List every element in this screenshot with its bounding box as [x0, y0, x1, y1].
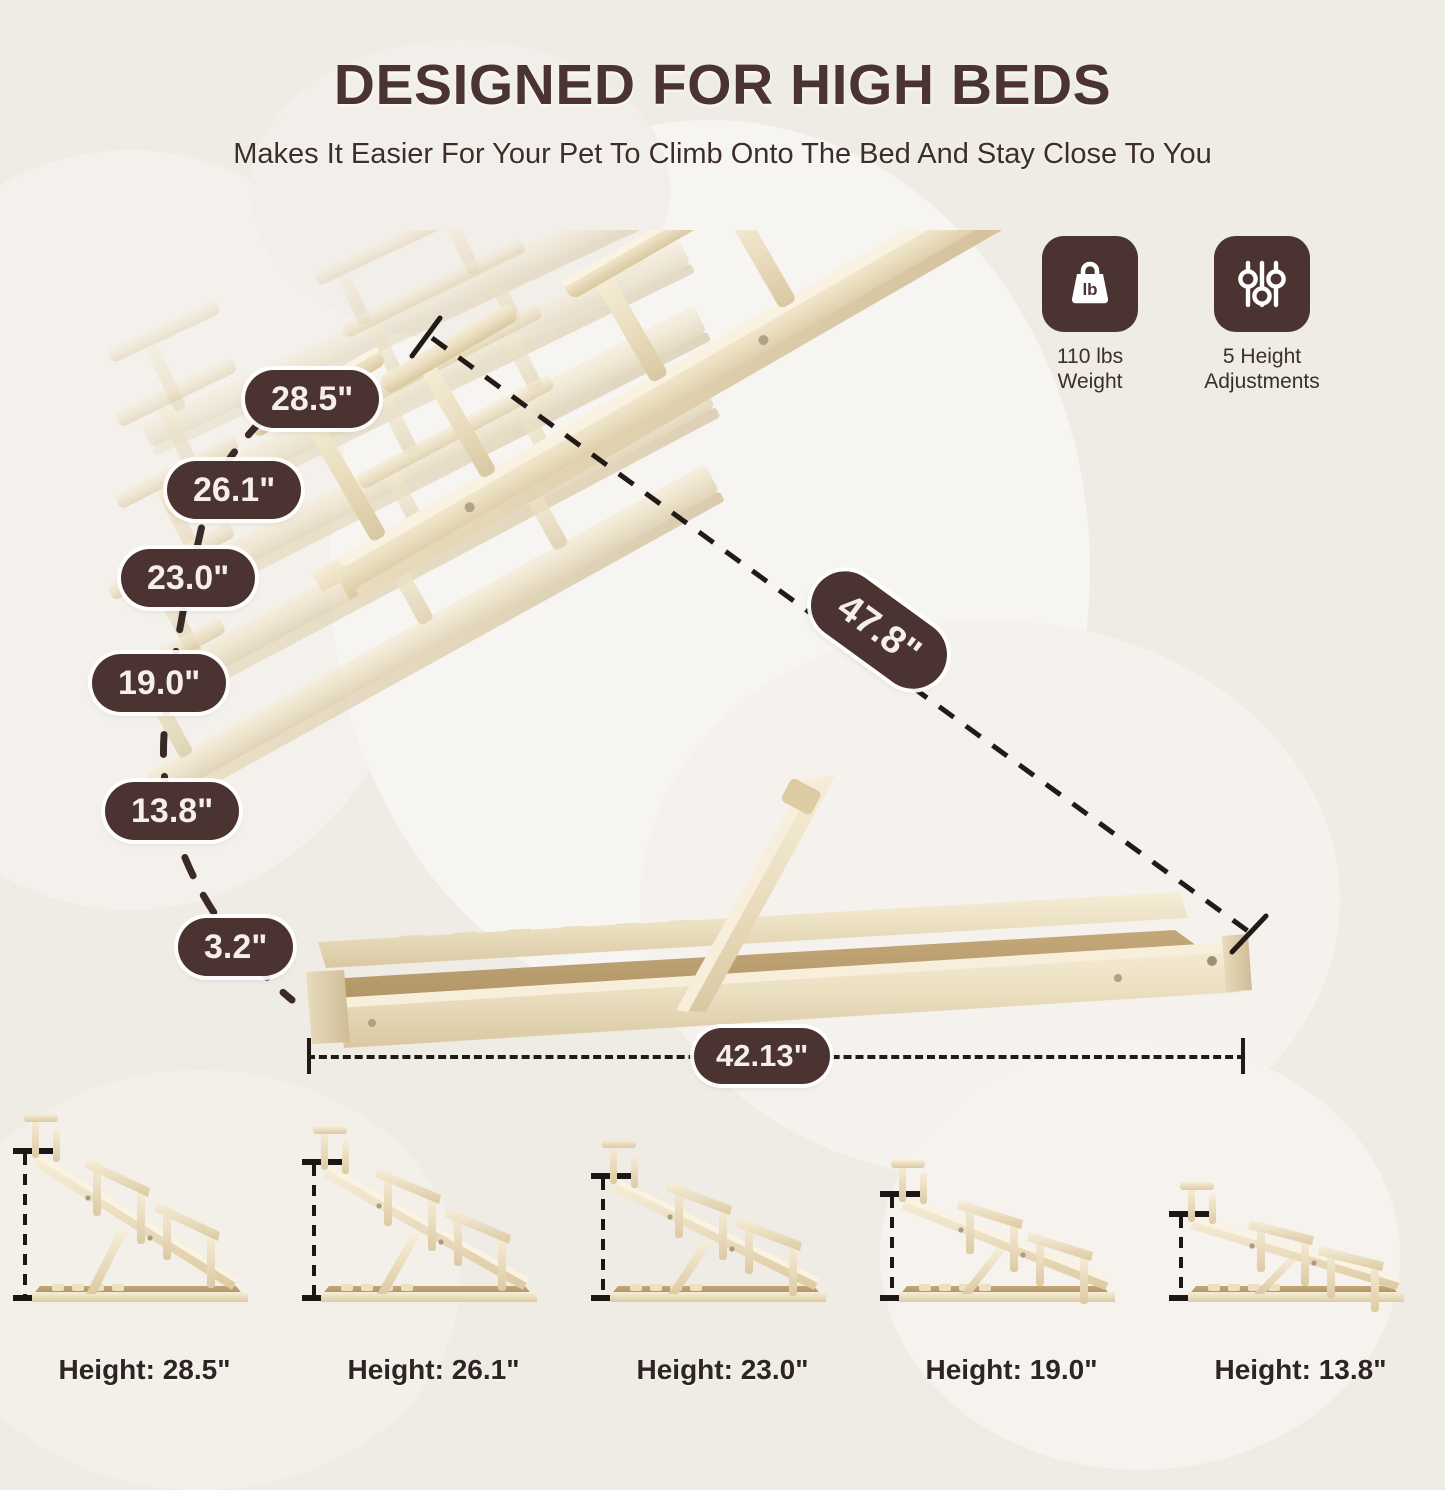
page-subtitle: Makes It Easier For Your Pet To Climb On…: [0, 138, 1445, 171]
thumbnail-art: [289, 1110, 578, 1340]
height-pill-26-1: 26.1": [167, 461, 301, 519]
height-pill-23-0: 23.0": [121, 549, 255, 607]
thumbnail-art: [867, 1110, 1156, 1340]
thumbnail-caption: Height: 13.8": [1156, 1354, 1445, 1386]
thumbnail-13-8: Height: 13.8": [1156, 1110, 1445, 1445]
height-pill-28-5: 28.5": [245, 370, 379, 428]
thumbnail-caption: Height: 23.0": [578, 1354, 867, 1386]
width-cap-right: [1241, 1038, 1245, 1074]
width-pill-42-13: 42.13": [694, 1028, 830, 1084]
header: DESIGNED FOR HIGH BEDS Makes It Easier F…: [0, 56, 1445, 171]
thumbnail-28-5: Height: 28.5": [0, 1110, 289, 1445]
thumbnail-26-1: Height: 26.1": [289, 1110, 578, 1445]
height-variant-thumbnails: Height: 28.5": [0, 1110, 1445, 1445]
thumbnail-art: [578, 1110, 867, 1340]
base-platform: [306, 892, 1252, 1048]
height-pill-19-0: 19.0": [92, 654, 226, 712]
infographic-canvas: DESIGNED FOR HIGH BEDS Makes It Easier F…: [0, 0, 1445, 1445]
thumbnail-art: [1156, 1110, 1445, 1340]
height-pill-3-2: 3.2": [178, 918, 293, 976]
height-pill-13-8: 13.8": [105, 782, 239, 840]
thumbnail-caption: Height: 19.0": [867, 1354, 1156, 1386]
thumbnail-art: [0, 1110, 289, 1340]
page-title: DESIGNED FOR HIGH BEDS: [0, 56, 1445, 116]
thumbnail-19-0: Height: 19.0": [867, 1110, 1156, 1445]
thumbnail-caption: Height: 26.1": [289, 1354, 578, 1386]
thumbnail-23-0: Height: 23.0": [578, 1110, 867, 1445]
thumbnail-caption: Height: 28.5": [0, 1354, 289, 1386]
